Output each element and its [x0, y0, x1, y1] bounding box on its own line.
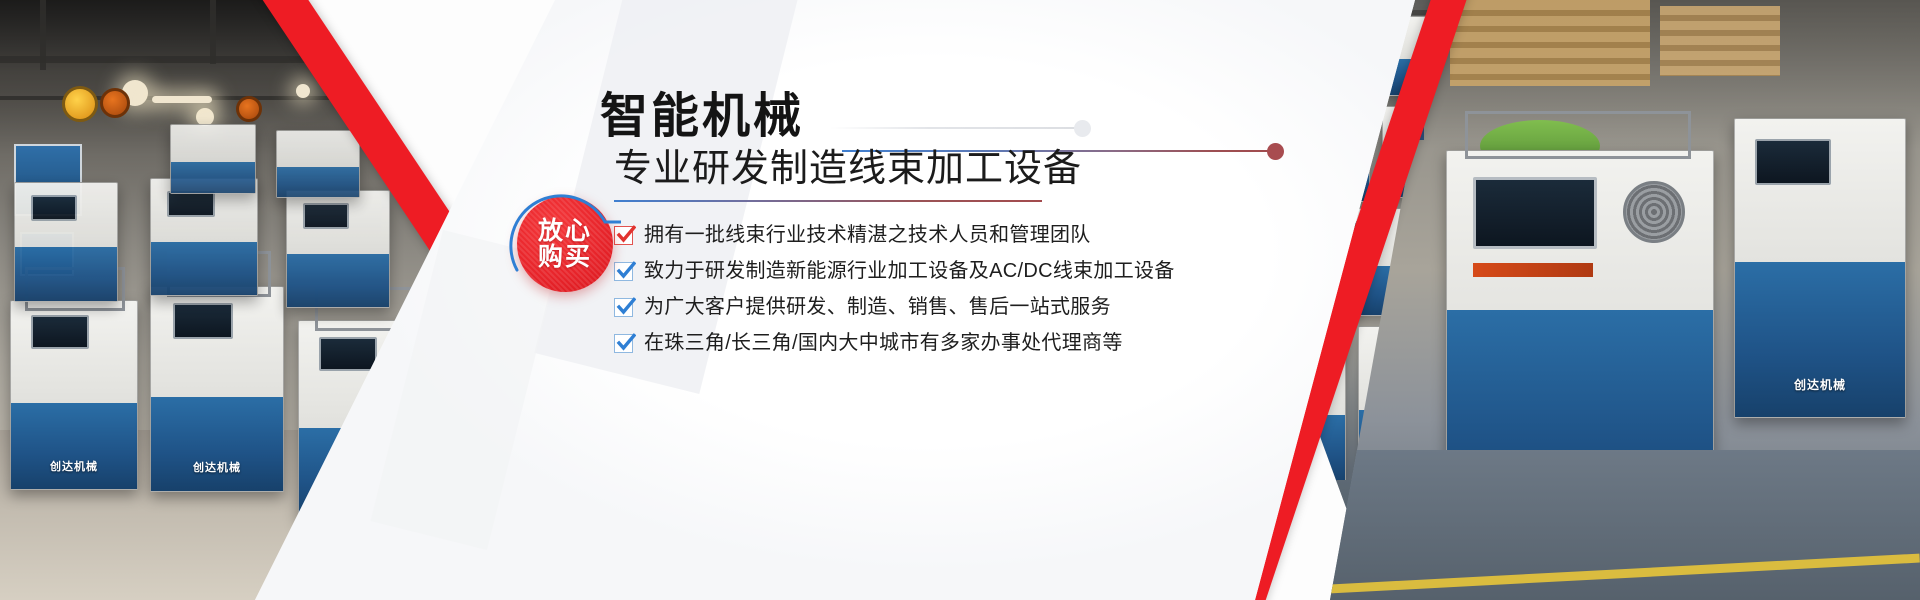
decor-dot-maroon [1267, 143, 1284, 160]
checkbox-checked-icon [614, 226, 633, 245]
checkbox-checked-icon [614, 298, 633, 317]
checkbox-checked-icon [614, 334, 633, 353]
badge-line-2: 购买 [538, 244, 592, 271]
checkbox-checked-icon [614, 262, 633, 281]
list-item: 在珠三角/长三角/国内大中城市有多家办事处代理商等 [614, 332, 1120, 354]
promo-banner: 创达机械 创达机械 创达机械 创达机械 [0, 0, 1920, 600]
list-item: 致力于研发制造新能源行业加工设备及AC/DC线束加工设备 [614, 260, 1120, 282]
list-item: 为广大客户提供研发、制造、销售、售后一站式服务 [614, 296, 1120, 318]
feature-list: 拥有一批线束行业技术精湛之技术人员和管理团队 致力于研发制造新能源行业加工设备及… [614, 224, 1120, 354]
list-item-label: 拥有一批线束行业技术精湛之技术人员和管理团队 [644, 224, 1091, 246]
banner-content: 智能机械 专业研发制造线束加工设备 拥有一批线束行业技术精湛之技术人员和管理团队… [600, 92, 1120, 368]
page-subtitle: 专业研发制造线束加工设备 [614, 148, 1120, 191]
assurance-badge: 放心 购买 [517, 196, 613, 292]
page-title: 智能机械 [600, 92, 1120, 142]
list-item-label: 致力于研发制造新能源行业加工设备及AC/DC线束加工设备 [644, 260, 1175, 282]
badge-line-1: 放心 [538, 218, 592, 245]
list-item: 拥有一批线束行业技术精湛之技术人员和管理团队 [614, 224, 1120, 246]
subtitle-underline [614, 200, 1042, 202]
list-item-label: 为广大客户提供研发、制造、销售、售后一站式服务 [644, 296, 1111, 318]
list-item-label: 在珠三角/长三角/国内大中城市有多家办事处代理商等 [644, 332, 1123, 354]
